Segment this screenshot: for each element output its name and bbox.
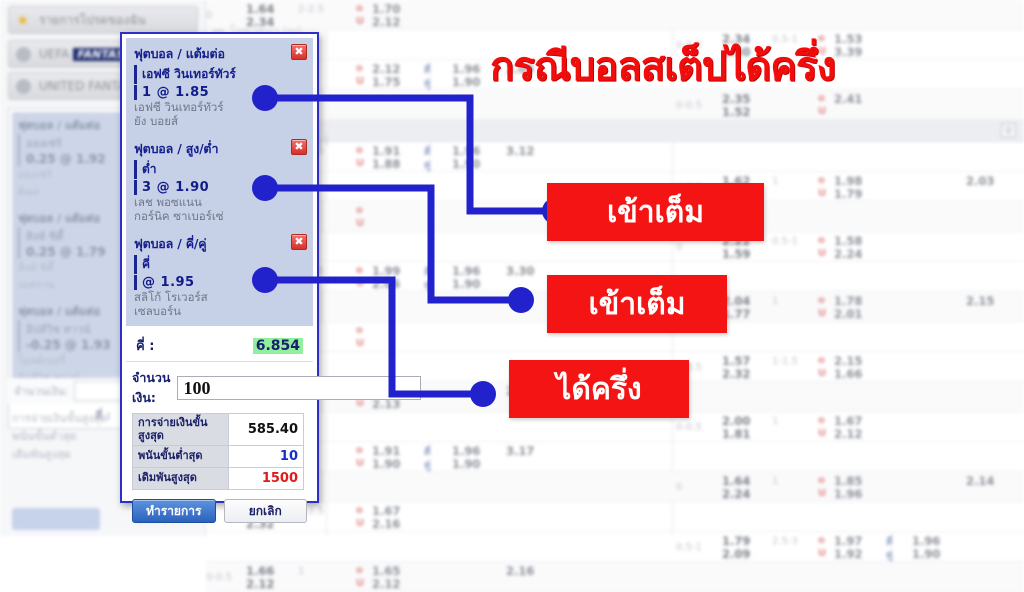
odds-cell[interactable]: 1.90 xyxy=(452,457,480,471)
odds-cell[interactable]: U xyxy=(356,458,364,469)
limit-value: 585.40 xyxy=(229,414,304,446)
selection-pick: ต่ำ xyxy=(142,160,305,179)
limit-row: เดิมพันสูงสุด1500 xyxy=(133,468,304,490)
odds-cell[interactable]: o xyxy=(818,295,825,306)
nav-label: รายการโปรดของฉัน xyxy=(39,11,146,30)
odds-cell[interactable]: 1-1.5 xyxy=(772,356,798,367)
odds-cell[interactable]: 0 xyxy=(676,242,682,253)
odds-cell[interactable]: U xyxy=(356,76,364,87)
odds-cell[interactable]: 2.24 xyxy=(834,247,862,261)
betslip-panel: ✖ฟุตบอล / แต้มต่อเอฟซี วินเทอร์ทัวร์1 @ … xyxy=(120,32,319,503)
odds-cell[interactable]: 1.66 xyxy=(834,367,862,381)
odds-cell[interactable]: o xyxy=(356,63,363,74)
limit-value: 10 xyxy=(229,446,304,468)
odds-cell[interactable]: U xyxy=(818,548,826,559)
odds-cell[interactable]: 1.96 xyxy=(452,264,480,278)
odds-cell[interactable]: 1.88 xyxy=(372,157,400,171)
odds-cell[interactable]: U xyxy=(818,428,826,439)
cancel-bet-button[interactable]: ยกเลิก xyxy=(224,499,308,523)
odds-cell[interactable]: U xyxy=(818,368,826,379)
odds-cell[interactable]: 2.16 xyxy=(372,517,400,531)
betslip-buttons: ทำรายการ ยกเลิก xyxy=(132,499,307,523)
odds-cell[interactable]: o xyxy=(818,535,825,546)
odds-cell[interactable]: 1.66 xyxy=(246,564,274,578)
odds-cell[interactable]: o xyxy=(818,475,825,486)
odds-cell[interactable]: 2.12 xyxy=(372,62,400,76)
odds-cell[interactable]: 1.97 xyxy=(834,534,862,548)
odds-cell[interactable]: 0.5-1 xyxy=(676,542,702,553)
odds-row[interactable]: 0.5-11.792.092.5-3oU1.971.92คี่คู่1.961.… xyxy=(206,532,1024,562)
betslip-selection: ✖ฟุตบอล / สูง/ต่ำต่ำ3 @ 1.90เลช พอซแนนกอ… xyxy=(134,139,305,223)
odds-cell[interactable]: o xyxy=(356,325,363,336)
odds-cell[interactable]: 2.15 xyxy=(966,294,994,308)
limits-table: การจ่ายเงินขั้นสูงสุด585.40พนันขั้นต่ำสุ… xyxy=(132,413,304,490)
odds-cell[interactable]: 1.85 xyxy=(834,474,862,488)
status-badge-full-win-1: เข้าเต็ม xyxy=(547,183,764,241)
odds-cell[interactable]: 1.90 xyxy=(372,457,400,471)
betslip-total-label: คี่ : xyxy=(136,335,154,356)
odds-cell[interactable]: คู่ xyxy=(424,278,431,293)
odds-cell[interactable]: o xyxy=(818,175,825,186)
odds-cell[interactable]: 2.06 xyxy=(372,277,400,291)
close-icon[interactable]: ✖ xyxy=(291,44,307,60)
odds-cell[interactable]: 1.96 xyxy=(452,144,480,158)
background-amount-label: จำนวนเงิน: xyxy=(14,382,68,400)
betslip-total-value: 6.854 xyxy=(253,338,303,354)
limit-row: การจ่ายเงินขั้นสูงสุด585.40 xyxy=(133,414,304,446)
odds-cell[interactable]: 2.16 xyxy=(506,564,534,578)
odds-cell[interactable]: o xyxy=(356,205,363,216)
odds-cell[interactable]: 2.32 xyxy=(722,367,750,381)
limit-label: พนันขั้นต่ำสุด xyxy=(133,446,229,468)
odds-cell[interactable]: 1.52 xyxy=(722,105,750,119)
odds-cell[interactable]: 1.75 xyxy=(372,75,400,89)
odds-cell[interactable]: 2.15 xyxy=(834,354,862,368)
odds-cell[interactable]: 1.96 xyxy=(834,487,862,501)
odds-cell[interactable]: U xyxy=(818,488,826,499)
odds-cell[interactable]: 3.12 xyxy=(506,144,534,158)
odds-cell[interactable]: คู่ xyxy=(424,158,431,173)
odds-cell[interactable]: 1.79 xyxy=(722,534,750,548)
selection-market: ฟุตบอล / คี่/คู่ xyxy=(134,234,305,254)
status-badge-label: ได้ครึ่ง xyxy=(556,366,641,413)
selection-odds: 1 @ 1.85 xyxy=(142,85,305,100)
limit-label: การจ่ายเงินขั้นสูงสุด xyxy=(133,414,229,446)
odds-cell[interactable]: U xyxy=(356,518,364,529)
odds-cell[interactable]: 1 xyxy=(772,296,778,307)
odds-cell[interactable]: o xyxy=(818,415,825,426)
odds-cell[interactable]: 2.09 xyxy=(722,547,750,561)
odds-cell[interactable]: U xyxy=(356,218,364,229)
odds-cell[interactable]: 1.96 xyxy=(912,534,940,548)
odds-cell[interactable]: 1.65 xyxy=(372,564,400,578)
selection-team-away: เซลบอร์น xyxy=(134,304,305,318)
stake-input[interactable] xyxy=(177,376,421,400)
odds-cell[interactable]: 1.90 xyxy=(912,547,940,561)
odds-cell[interactable]: 2.24 xyxy=(722,487,750,501)
stake-label: จำนวนเงิน: xyxy=(132,368,170,408)
odds-cell[interactable]: 1 xyxy=(772,476,778,487)
status-badge-label: เข้าเต็ม xyxy=(607,189,704,236)
odds-cell[interactable]: 2.5-3 xyxy=(772,536,798,547)
odds-cell[interactable]: 0.5-1 xyxy=(772,236,798,247)
nav-item-favorites[interactable]: ★ รายการโปรดของฉัน xyxy=(8,6,198,34)
odds-cell[interactable]: 1.57 xyxy=(722,354,750,368)
odds-row[interactable]: 01.642.241oU1.851.962.14 xyxy=(206,472,1024,502)
odds-cell[interactable]: 1.96 xyxy=(452,62,480,76)
odds-cell[interactable]: 1.67 xyxy=(834,414,862,428)
odds-cell[interactable]: U xyxy=(356,278,364,289)
selection-team-home: เลช พอซแนน xyxy=(134,195,305,209)
odds-cell[interactable]: U xyxy=(818,106,826,117)
odds-cell[interactable]: o xyxy=(356,3,363,14)
odds-cell[interactable]: 0-0.5 xyxy=(676,100,702,111)
odds-cell[interactable]: 0-0.5 xyxy=(676,422,702,433)
odds-cell[interactable]: 1.58 xyxy=(834,234,862,248)
odds-cell[interactable]: o xyxy=(356,565,363,576)
odds-cell[interactable]: 2.03 xyxy=(966,174,994,188)
close-icon[interactable]: ✖ xyxy=(291,139,307,155)
page-title: กรณีบอลสเต็ปได้ครึ่ง xyxy=(490,34,960,98)
status-badge-label: เข้าเต็ม xyxy=(588,281,685,328)
odds-row[interactable]: 0-0.51.662.121oU1.652.122.16 xyxy=(206,562,1024,592)
odds-cell[interactable]: 1.70 xyxy=(372,2,400,16)
close-icon[interactable]: ✖ xyxy=(291,234,307,250)
selection-team-away: กอร์นิค ซาเบอร์เซ่ xyxy=(134,209,305,223)
odds-cell[interactable]: U xyxy=(818,248,826,259)
odds-cell[interactable]: 0 xyxy=(676,482,682,493)
odds-cell[interactable]: 1.90 xyxy=(452,277,480,291)
odds-cell[interactable]: 2.12 xyxy=(246,577,274,591)
selection-team-home: เอฟซี วินเทอร์ทัวร์ xyxy=(134,100,305,114)
selection-odds: 3 @ 1.90 xyxy=(142,180,305,195)
odds-cell[interactable]: U xyxy=(818,188,826,199)
odds-cell[interactable]: o xyxy=(818,355,825,366)
odds-cell[interactable]: 1.78 xyxy=(834,294,862,308)
selection-team-home: สลิโก้ โรเวอร์ส xyxy=(134,290,305,304)
odds-cell[interactable]: U xyxy=(356,158,364,169)
betslip-total-row: คี่ : 6.854 xyxy=(126,330,313,362)
odds-cell[interactable]: คู่ xyxy=(424,76,431,91)
odds-cell[interactable]: U xyxy=(818,308,826,319)
star-icon: ★ xyxy=(16,13,31,28)
selection-pick: เอฟซี วินเทอร์ทัวร์ xyxy=(142,65,305,84)
circle-icon xyxy=(16,79,31,94)
limit-value: 1500 xyxy=(229,468,304,490)
odds-cell[interactable]: 1.59 xyxy=(722,247,750,261)
odds-cell[interactable]: 1.64 xyxy=(722,474,750,488)
odds-cell[interactable]: 3.17 xyxy=(506,444,534,458)
odds-cell[interactable]: 1.67 xyxy=(372,504,400,518)
odds-cell[interactable]: 1 xyxy=(772,416,778,427)
status-badge-half-win: ได้ครึ่ง xyxy=(509,360,689,418)
odds-cell[interactable]: o xyxy=(356,505,363,516)
background-submit-button[interactable] xyxy=(12,508,100,530)
odds-row[interactable]: 01.592.322-2.5oU1.672.16 xyxy=(206,502,1024,532)
odds-cell[interactable]: 0-0.5 xyxy=(206,572,232,583)
odds-cell[interactable]: 1.79 xyxy=(834,187,862,201)
betslip-selection: ✖ฟุตบอล / แต้มต่อเอฟซี วินเทอร์ทัวร์1 @ … xyxy=(134,44,305,128)
selection-pick: คี่ xyxy=(142,255,305,274)
odds-cell[interactable]: 1.90 xyxy=(452,75,480,89)
odds-cell[interactable]: 3.30 xyxy=(506,264,534,278)
odds-cell[interactable]: 1.90 xyxy=(452,157,480,171)
selection-team-away: ยัง บอยส์ xyxy=(134,114,305,128)
odds-cell[interactable]: 1.64 xyxy=(246,2,274,16)
stake-row: จำนวนเงิน: xyxy=(126,368,313,408)
submit-bet-button[interactable]: ทำรายการ xyxy=(132,499,216,523)
odds-cell[interactable]: 2.01 xyxy=(834,307,862,321)
circle-icon xyxy=(16,47,31,62)
limit-label: เดิมพันสูงสุด xyxy=(133,468,229,490)
odds-cell[interactable]: U xyxy=(356,338,364,349)
betslip-selection: ✖ฟุตบอล / คี่/คู่คี่@ 1.95สลิโก้ โรเวอร์… xyxy=(134,234,305,318)
status-badge-full-win-2: เข้าเต็ม xyxy=(547,275,727,333)
nav-label: UEFA xyxy=(39,47,69,61)
odds-cell[interactable]: 1.81 xyxy=(722,427,750,441)
odds-cell[interactable]: 1 xyxy=(298,566,304,577)
betslip-selections: ✖ฟุตบอล / แต้มต่อเอฟซี วินเทอร์ทัวร์1 @ … xyxy=(126,38,313,326)
odds-cell[interactable]: 2.12 xyxy=(372,577,400,591)
odds-cell[interactable]: คู่ xyxy=(886,548,893,563)
odds-cell[interactable]: U xyxy=(356,578,364,589)
odds-cell[interactable]: 1.92 xyxy=(834,547,862,561)
odds-cell[interactable]: 2.14 xyxy=(966,474,994,488)
limit-row: พนันขั้นต่ำสุด10 xyxy=(133,446,304,468)
odds-cell[interactable]: o xyxy=(818,235,825,246)
selection-market: ฟุตบอล / สูง/ต่ำ xyxy=(134,139,305,159)
search-icon[interactable]: ⚲ xyxy=(1001,123,1016,138)
odds-cell[interactable]: 1.96 xyxy=(452,444,480,458)
odds-cell[interactable]: คู่ xyxy=(424,458,431,473)
selection-market: ฟุตบอล / แต้มต่อ xyxy=(134,44,305,64)
odds-cell[interactable]: 1.98 xyxy=(834,174,862,188)
odds-cell[interactable]: 1 xyxy=(772,176,778,187)
odds-cell[interactable]: 2.12 xyxy=(834,427,862,441)
odds-cell[interactable]: 2.00 xyxy=(722,414,750,428)
odds-cell[interactable]: 2-2.5 xyxy=(298,4,324,15)
selection-odds: @ 1.95 xyxy=(142,275,305,290)
